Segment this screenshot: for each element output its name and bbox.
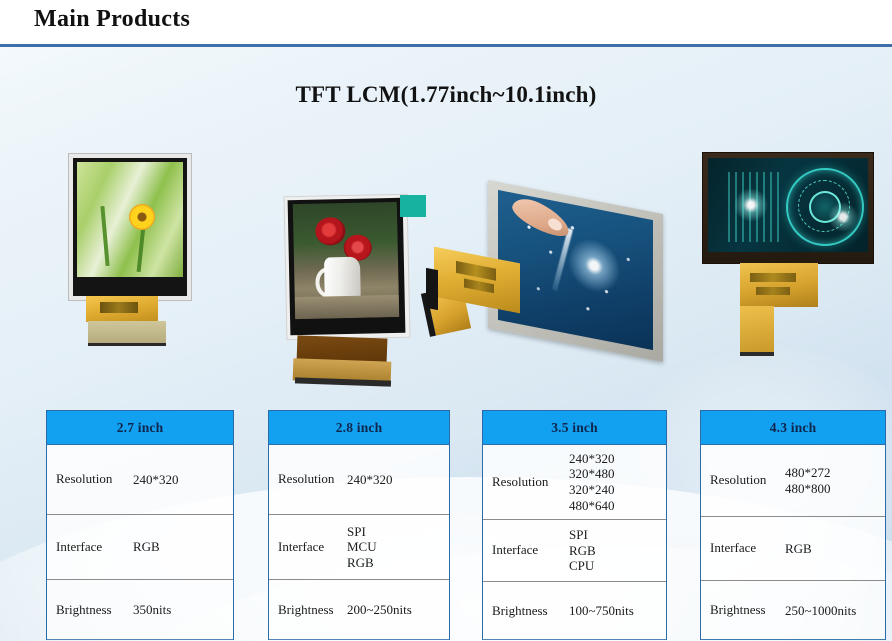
table-row: Resolution 240*320 (47, 445, 233, 515)
spec-value: 250~1000nits (779, 603, 885, 619)
spec-value: RGB (127, 539, 233, 555)
table-row: Brightness 350nits (47, 580, 233, 640)
page-header: Main Products (0, 0, 892, 44)
spec-value: RGB (779, 541, 885, 557)
spec-table-header-2-7-inch: 2.7 inch (46, 410, 234, 445)
spec-label: Resolution (47, 472, 127, 487)
spec-label: Brightness (483, 604, 563, 619)
spec-table-body: Resolution 480*272 480*800 Interface RGB… (700, 445, 886, 640)
table-row: Brightness 200~250nits (269, 580, 449, 640)
spec-table-3-5-inch: 3.5 inch Resolution 240*320 320*480 320*… (482, 410, 667, 640)
spec-label: Brightness (47, 603, 127, 618)
spec-value: 480*272 480*800 (779, 465, 885, 496)
spec-value: 240*320 (127, 472, 233, 488)
spec-table-row: 2.7 inch Resolution 240*320 Interface RG… (0, 47, 892, 641)
spec-table-body: Resolution 240*320 320*480 320*240 480*6… (482, 445, 667, 640)
spec-label: Interface (47, 540, 127, 555)
spec-value: 240*320 320*480 320*240 480*640 (563, 451, 666, 513)
table-row: Interface SPI RGB CPU (483, 520, 666, 582)
spec-value: 200~250nits (341, 602, 449, 618)
spec-table-4-3-inch: 4.3 inch Resolution 480*272 480*800 Inte… (700, 410, 886, 640)
spec-value: SPI MCU RGB (341, 524, 449, 571)
table-row: Interface RGB (701, 517, 885, 581)
table-row: Resolution 480*272 480*800 (701, 445, 885, 517)
table-row: Interface RGB (47, 515, 233, 580)
spec-label: Resolution (483, 475, 563, 490)
spec-table-header-3-5-inch: 3.5 inch (482, 410, 667, 445)
spec-label: Interface (701, 541, 779, 556)
table-row: Interface SPI MCU RGB (269, 515, 449, 580)
spec-label: Brightness (701, 603, 779, 618)
product-slide: Main Products TFT LCM(1.77inch~10.1inch) (0, 0, 892, 641)
table-row: Resolution 240*320 320*480 320*240 480*6… (483, 445, 666, 520)
slide-body: TFT LCM(1.77inch~10.1inch) (0, 47, 892, 641)
spec-table-header-4-3-inch: 4.3 inch (700, 410, 886, 445)
spec-label: Resolution (269, 472, 341, 487)
spec-table-2-7-inch: 2.7 inch Resolution 240*320 Interface RG… (46, 410, 234, 640)
table-row: Resolution 240*320 (269, 445, 449, 515)
spec-table-body: Resolution 240*320 Interface RGB Brightn… (46, 445, 234, 640)
spec-table-2-8-inch: 2.8 inch Resolution 240*320 Interface SP… (268, 410, 450, 640)
page-title: Main Products (34, 6, 190, 33)
spec-value: 350nits (127, 602, 233, 618)
spec-label: Resolution (701, 473, 779, 488)
spec-table-body: Resolution 240*320 Interface SPI MCU RGB… (268, 445, 450, 640)
spec-label: Interface (269, 540, 341, 555)
spec-label: Interface (483, 543, 563, 558)
table-row: Brightness 250~1000nits (701, 581, 885, 640)
spec-value: SPI RGB CPU (563, 527, 666, 574)
table-row: Brightness 100~750nits (483, 582, 666, 640)
spec-value: 100~750nits (563, 603, 666, 619)
spec-value: 240*320 (341, 472, 449, 488)
spec-table-header-2-8-inch: 2.8 inch (268, 410, 450, 445)
spec-label: Brightness (269, 603, 341, 618)
